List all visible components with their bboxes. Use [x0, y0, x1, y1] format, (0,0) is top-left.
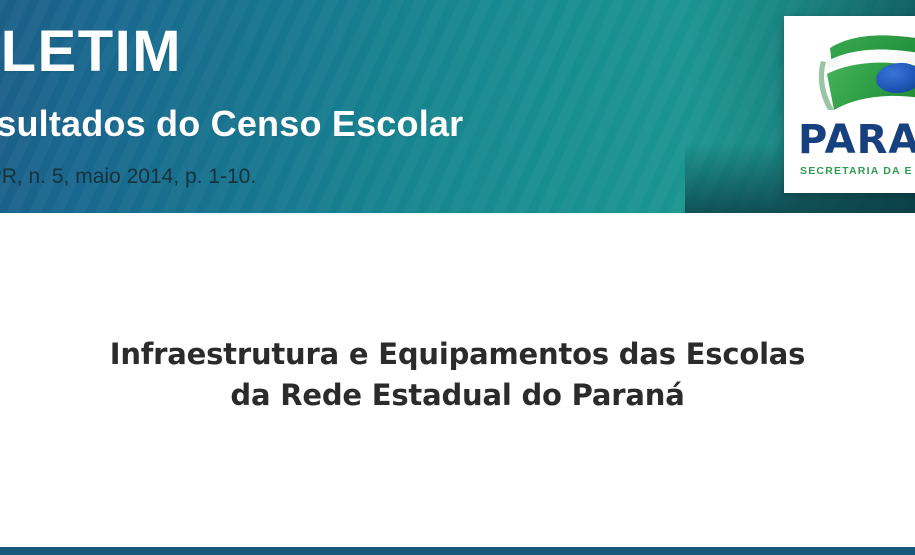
document-title-line-2: da Rede Estadual do Paraná	[0, 375, 915, 416]
header-banner: OLETIM esultados do Censo Escolar tiba P…	[0, 0, 915, 213]
document-body: Infraestrutura e Equipamentos das Escola…	[0, 213, 915, 547]
document-title-line-1: Infraestrutura e Equipamentos das Escola…	[0, 334, 915, 375]
publication-title: OLETIM	[0, 22, 182, 83]
parana-wordmark: PARA	[798, 120, 915, 160]
footer-accent-bar	[0, 547, 915, 555]
publication-citation: tiba PR, n. 5, maio 2014, p. 1-10.	[0, 164, 256, 189]
parana-logo-card: PARA SECRETARIA DA E	[784, 16, 915, 193]
document-title: Infraestrutura e Equipamentos das Escola…	[0, 334, 915, 416]
publication-subtitle: esultados do Censo Escolar	[0, 104, 463, 144]
parana-tagline: SECRETARIA DA E	[800, 166, 913, 177]
parana-flag-icon	[800, 30, 915, 116]
page-root: OLETIM esultados do Censo Escolar tiba P…	[0, 0, 915, 555]
